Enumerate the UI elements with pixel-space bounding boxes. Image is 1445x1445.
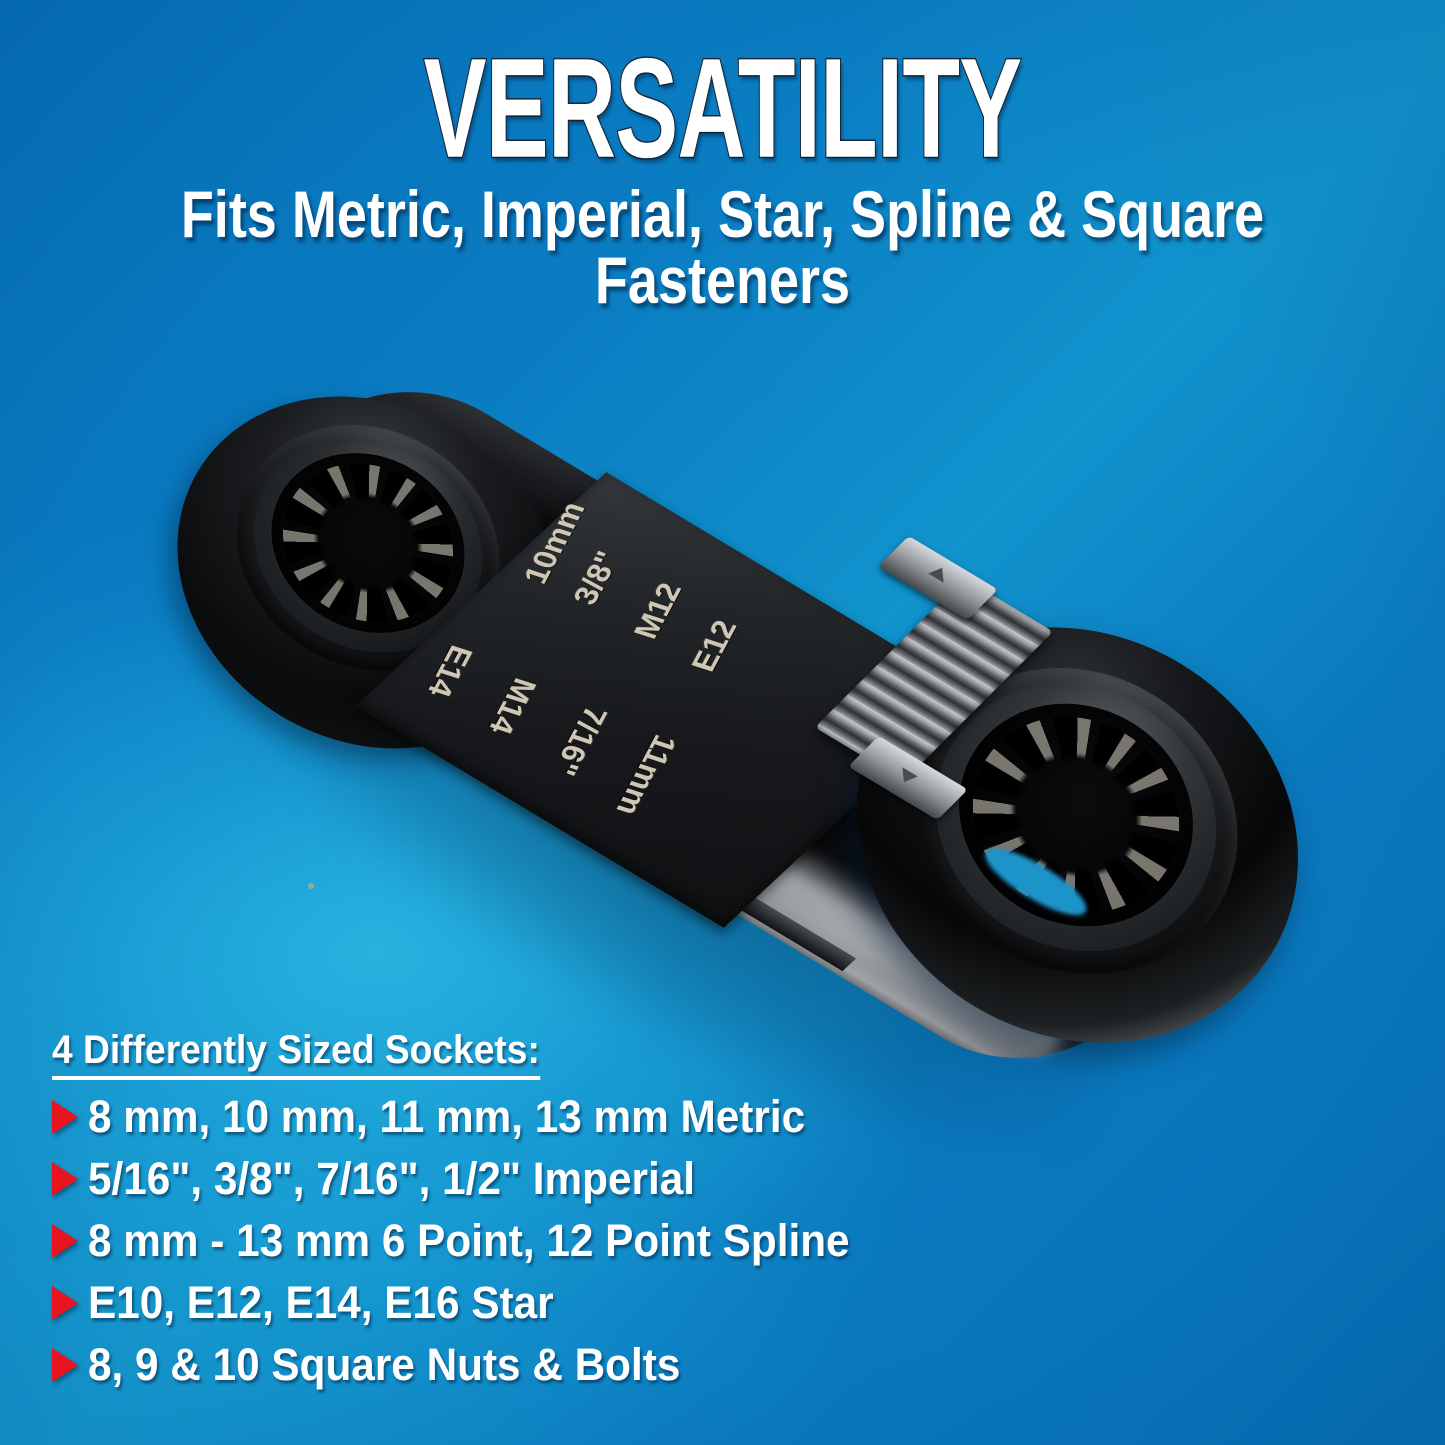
list-item: 8 mm - 13 mm 6 Point, 12 Point Spline — [52, 1216, 898, 1266]
feature-list-heading: 4 Differently Sized Sockets: — [52, 1028, 540, 1080]
feature-list: 4 Differently Sized Sockets: 8 mm, 10 mm… — [52, 1028, 898, 1390]
list-item-label: 8 mm - 13 mm 6 Point, 12 Point Spline — [88, 1215, 850, 1267]
arrow-right-icon — [52, 1224, 78, 1258]
arrow-right-icon — [52, 1100, 78, 1134]
header-block: VERSATILITY Fits Metric, Imperial, Star,… — [0, 0, 1445, 302]
list-item-label: 8, 9 & 10 Square Nuts & Bolts — [88, 1339, 680, 1391]
arrow-right-icon — [52, 1286, 78, 1320]
list-item-label: 8 mm, 10 mm, 11 mm, 13 mm Metric — [88, 1091, 805, 1143]
page-subtitle: Fits Metric, Imperial, Star, Spline & Sq… — [72, 182, 1373, 314]
arrow-right-icon — [52, 1162, 78, 1196]
arrow-right-icon — [52, 1348, 78, 1382]
list-item-label: E10, E12, E14, E16 Star — [88, 1277, 554, 1329]
list-item: 8 mm, 10 mm, 11 mm, 13 mm Metric — [52, 1092, 898, 1142]
list-item: 5/16", 3/8", 7/16", 1/2" Imperial — [52, 1154, 898, 1204]
page-title: VERSATILITY — [145, 38, 1301, 180]
surface-speck — [308, 883, 314, 889]
product-wrench: 10mm 3/8" M12 E12 E14 M14 7/16" 11mm — [150, 385, 1310, 1085]
list-item: E10, E12, E14, E16 Star — [52, 1278, 898, 1328]
list-item: 8, 9 & 10 Square Nuts & Bolts — [52, 1340, 898, 1390]
list-item-label: 5/16", 3/8", 7/16", 1/2" Imperial — [88, 1153, 695, 1205]
